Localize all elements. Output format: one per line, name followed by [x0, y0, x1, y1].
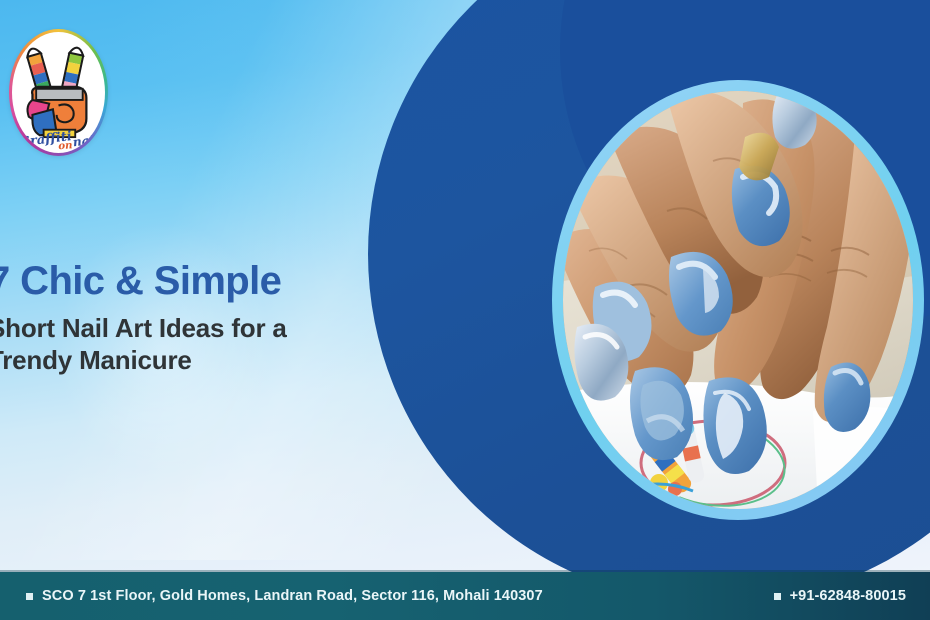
headline-primary: 7 Chic & Simple [0, 258, 388, 304]
svg-text:on: on [58, 139, 73, 152]
footer-phone[interactable]: +91-62848-80015 [774, 588, 906, 604]
footer-address-text: SCO 7 1st Floor, Gold Homes, Landran Roa… [42, 588, 543, 604]
footer-phone-text: +91-62848-80015 [790, 588, 906, 604]
brand-logo[interactable]: Graffiti on nails [9, 29, 108, 156]
brand-logo-inner: Graffiti on nails [12, 32, 105, 153]
footer-address: SCO 7 1st Floor, Gold Homes, Landran Roa… [26, 588, 543, 604]
photo-ring [552, 80, 924, 520]
square-bullet-icon [774, 593, 781, 600]
nail-art-photo [563, 91, 913, 509]
promo-banner: Graffiti on nails 7 Chic & Simple Short … [0, 0, 930, 620]
headline-secondary: Short Nail Art Ideas for a Trendy Manicu… [0, 312, 358, 376]
headline-block: 7 Chic & Simple Short Nail Art Ideas for… [0, 258, 388, 376]
square-bullet-icon [26, 593, 33, 600]
footer-bar: SCO 7 1st Floor, Gold Homes, Landran Roa… [0, 572, 930, 620]
